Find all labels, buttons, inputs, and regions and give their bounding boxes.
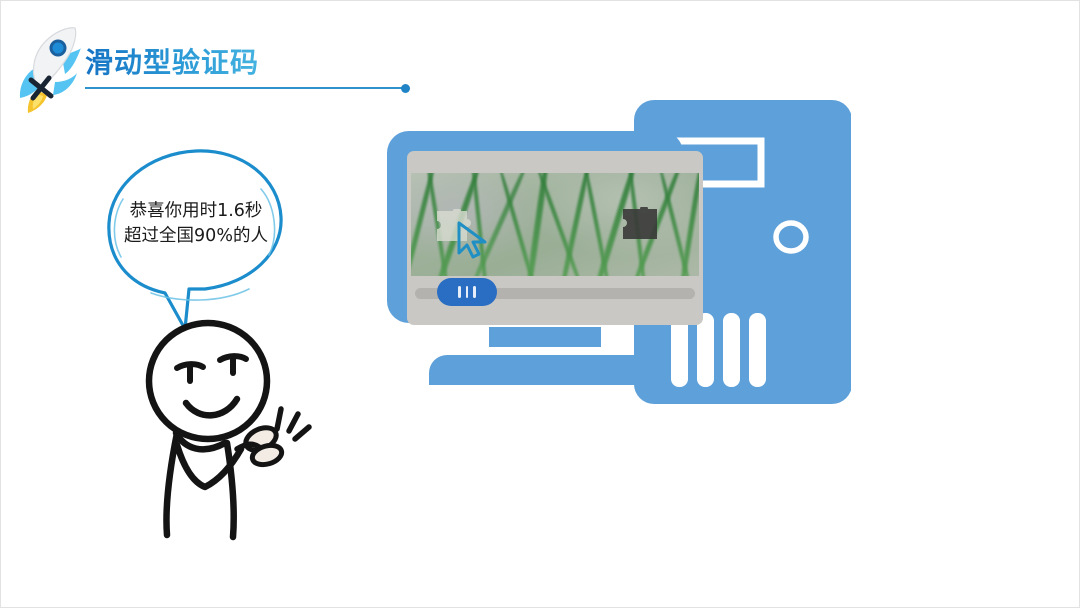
slide-canvas: 滑动型验证码 恭喜你用时1.6秒 超过全国90%的人 (0, 0, 1080, 608)
title-rule-end-dot-icon (401, 84, 410, 93)
slider-grip-line (466, 286, 469, 298)
page-title: 滑动型验证码 (85, 41, 259, 81)
captcha-slider-handle[interactable] (437, 278, 497, 306)
rocket-icon (15, 24, 83, 116)
title-underline-rule (85, 87, 405, 89)
captcha-background-image (411, 173, 699, 276)
slider-grip-line (458, 286, 461, 298)
speech-bubble-text: 恭喜你用时1.6秒 超过全国90%的人 (96, 199, 296, 249)
stick-figure-person-icon (141, 313, 351, 563)
puzzle-slot-icon (623, 207, 659, 241)
mouse-cursor-icon (455, 221, 491, 259)
captcha-screen (407, 151, 703, 325)
slider-grip-line (473, 286, 476, 298)
